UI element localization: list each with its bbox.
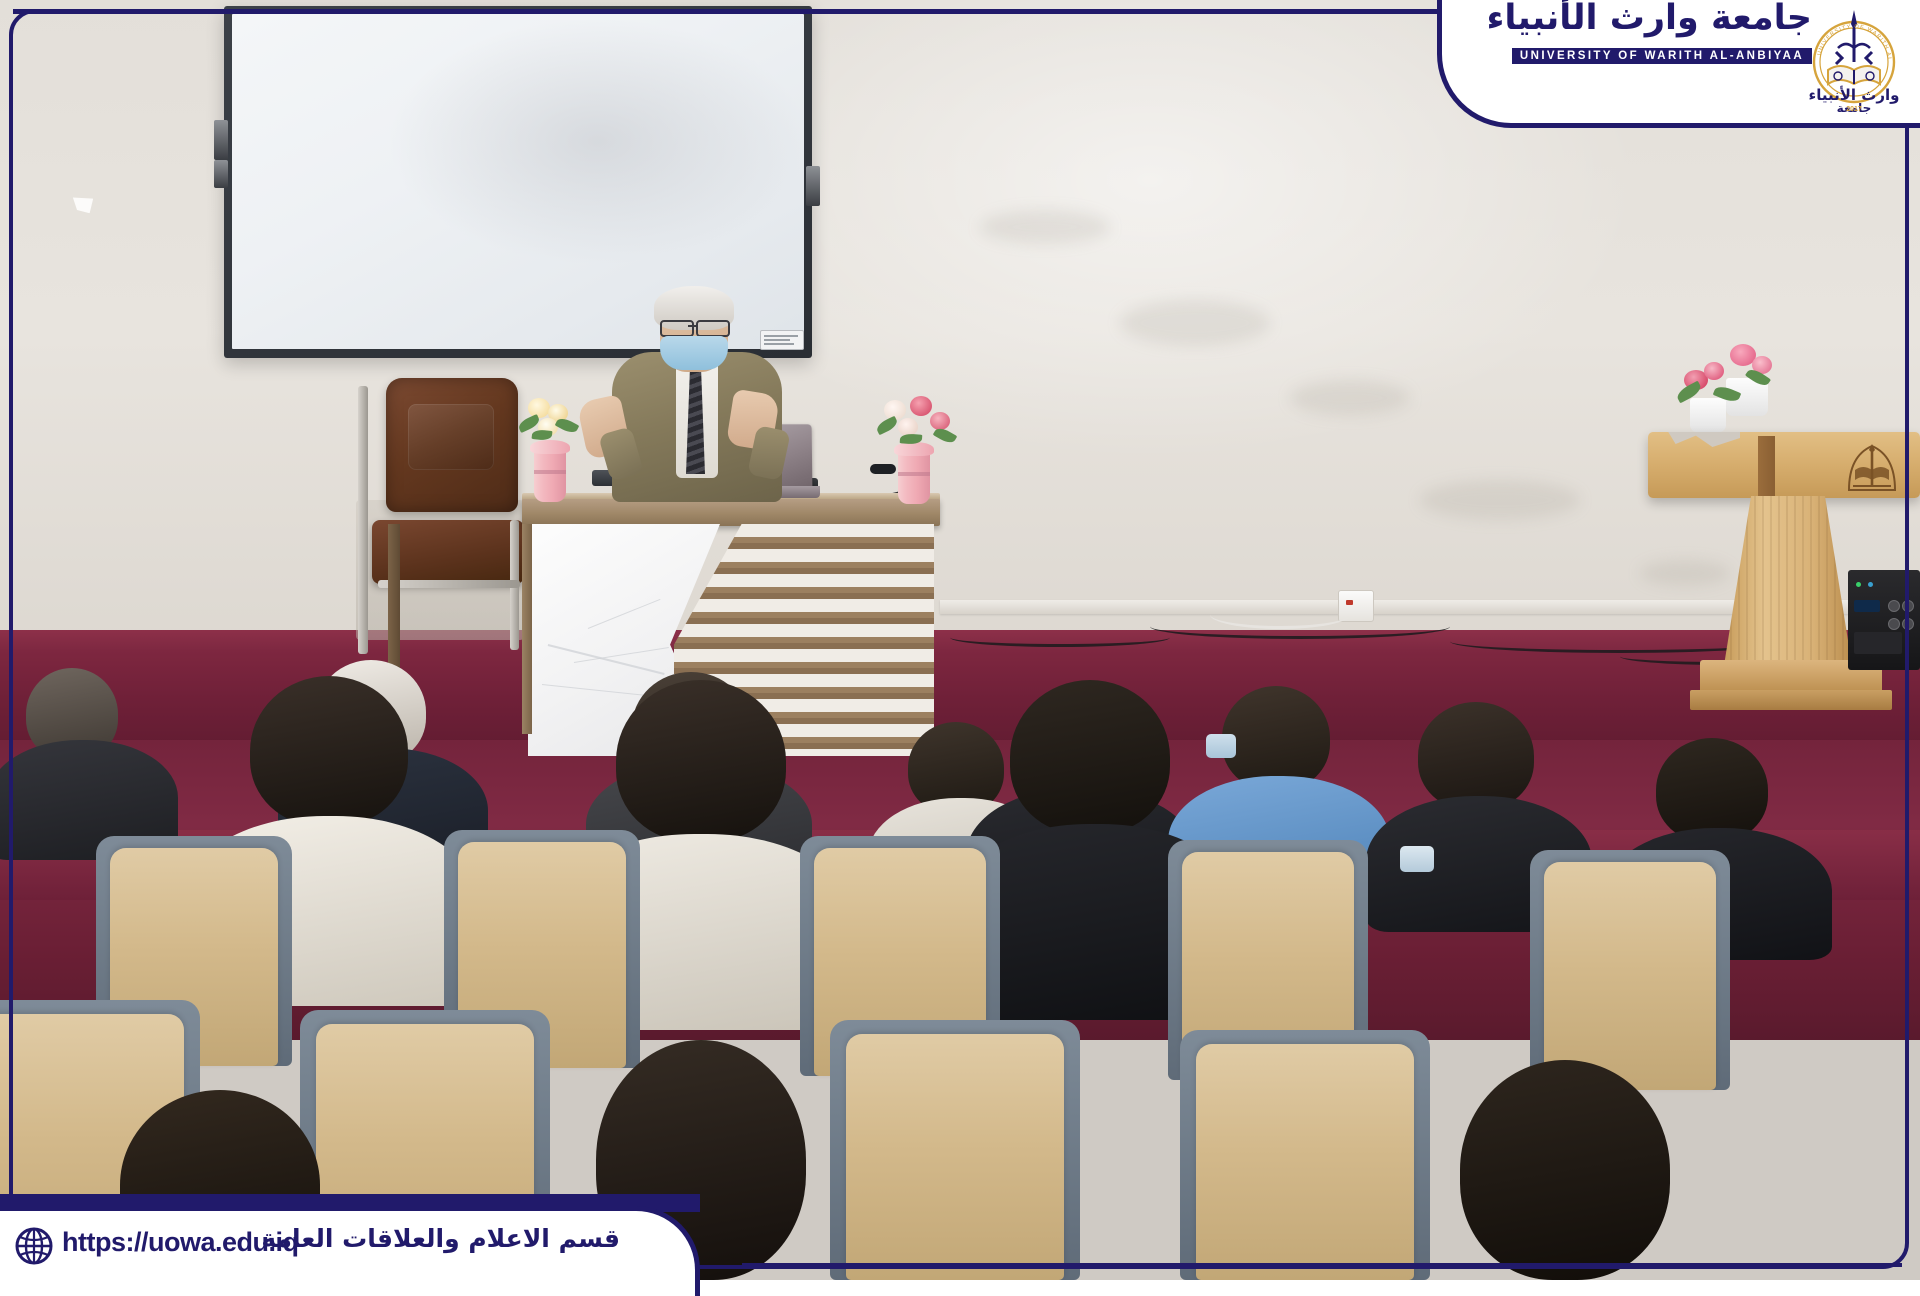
chair-leg	[358, 386, 368, 654]
university-name-arabic: جامعة وارث الأنبياء	[1512, 0, 1812, 38]
podium-emblem-icon	[1843, 440, 1901, 494]
presenter-face-mask	[660, 336, 728, 370]
auditorium-seat-back	[1196, 1044, 1414, 1280]
flower-vase-left	[534, 446, 566, 502]
wall-smudge	[1640, 560, 1730, 586]
flower-petal	[930, 412, 950, 430]
audio-equipment-rack	[1848, 570, 1920, 670]
university-wordmark: جامعة وارث الأنبياء UNIVERSITY OF WARITH…	[1512, 4, 1812, 70]
university-name-english: UNIVERSITY OF WARITH AL-ANBIYAA	[1512, 48, 1812, 64]
flower-petal	[528, 398, 550, 418]
flower-petal	[910, 396, 932, 416]
event-photo	[0, 0, 1920, 1280]
audience-head	[1460, 1060, 1670, 1280]
wall-smudge	[1420, 480, 1580, 520]
flower-vase-right	[898, 448, 930, 504]
department-name-arabic: قسم الاعلام والعلاقات العامة	[270, 1224, 620, 1253]
whiteboard-mount-bracket	[806, 166, 820, 206]
audience-head	[616, 680, 786, 842]
globe-icon	[14, 1226, 54, 1266]
podium-accent-stripe	[1758, 436, 1775, 498]
power-cable	[1210, 600, 1350, 629]
headset	[870, 464, 896, 474]
audience-head	[1656, 738, 1768, 842]
wall-smudge	[1120, 300, 1270, 346]
power-cable	[950, 628, 1170, 647]
university-emblem-icon: وارث الأنبياء جامعة 2017 UNIVERSITY OF W…	[1798, 4, 1910, 116]
desk-left-edge	[522, 524, 532, 734]
leather-chair-back	[386, 378, 518, 512]
svg-text:UNIVERSITY OF WARITH AL-ANBIYA: UNIVERSITY OF WARITH AL-ANBIYAA	[1798, 4, 1892, 62]
audience-head	[250, 676, 408, 826]
presenter-glasses-bridge	[688, 325, 698, 327]
wall-smudge	[980, 210, 1110, 244]
auditorium-seat-back	[846, 1034, 1064, 1280]
whiteboard-label	[760, 330, 804, 350]
audience-face-mask	[1400, 846, 1434, 872]
presenter-desk-top	[522, 498, 940, 526]
audience-head	[1010, 680, 1170, 834]
svg-text:2017: 2017	[1846, 106, 1862, 113]
podium-base-plinth	[1690, 690, 1892, 710]
footer-baseline-rule	[742, 1263, 1902, 1267]
whiteboard-mount-bracket	[214, 120, 228, 160]
audience-face-mask	[1206, 734, 1236, 758]
wall-smudge	[1290, 380, 1410, 416]
audience-head	[1418, 702, 1534, 810]
audience-head	[1222, 686, 1330, 790]
auditorium-seat-back	[1544, 862, 1716, 1090]
whiteboard-mount-bracket	[214, 160, 228, 188]
flower-pot	[1690, 398, 1726, 432]
presenter-glasses	[660, 320, 694, 337]
header-rule	[13, 9, 1461, 14]
presenter-glasses	[696, 320, 730, 337]
flower-petal	[1704, 362, 1724, 380]
